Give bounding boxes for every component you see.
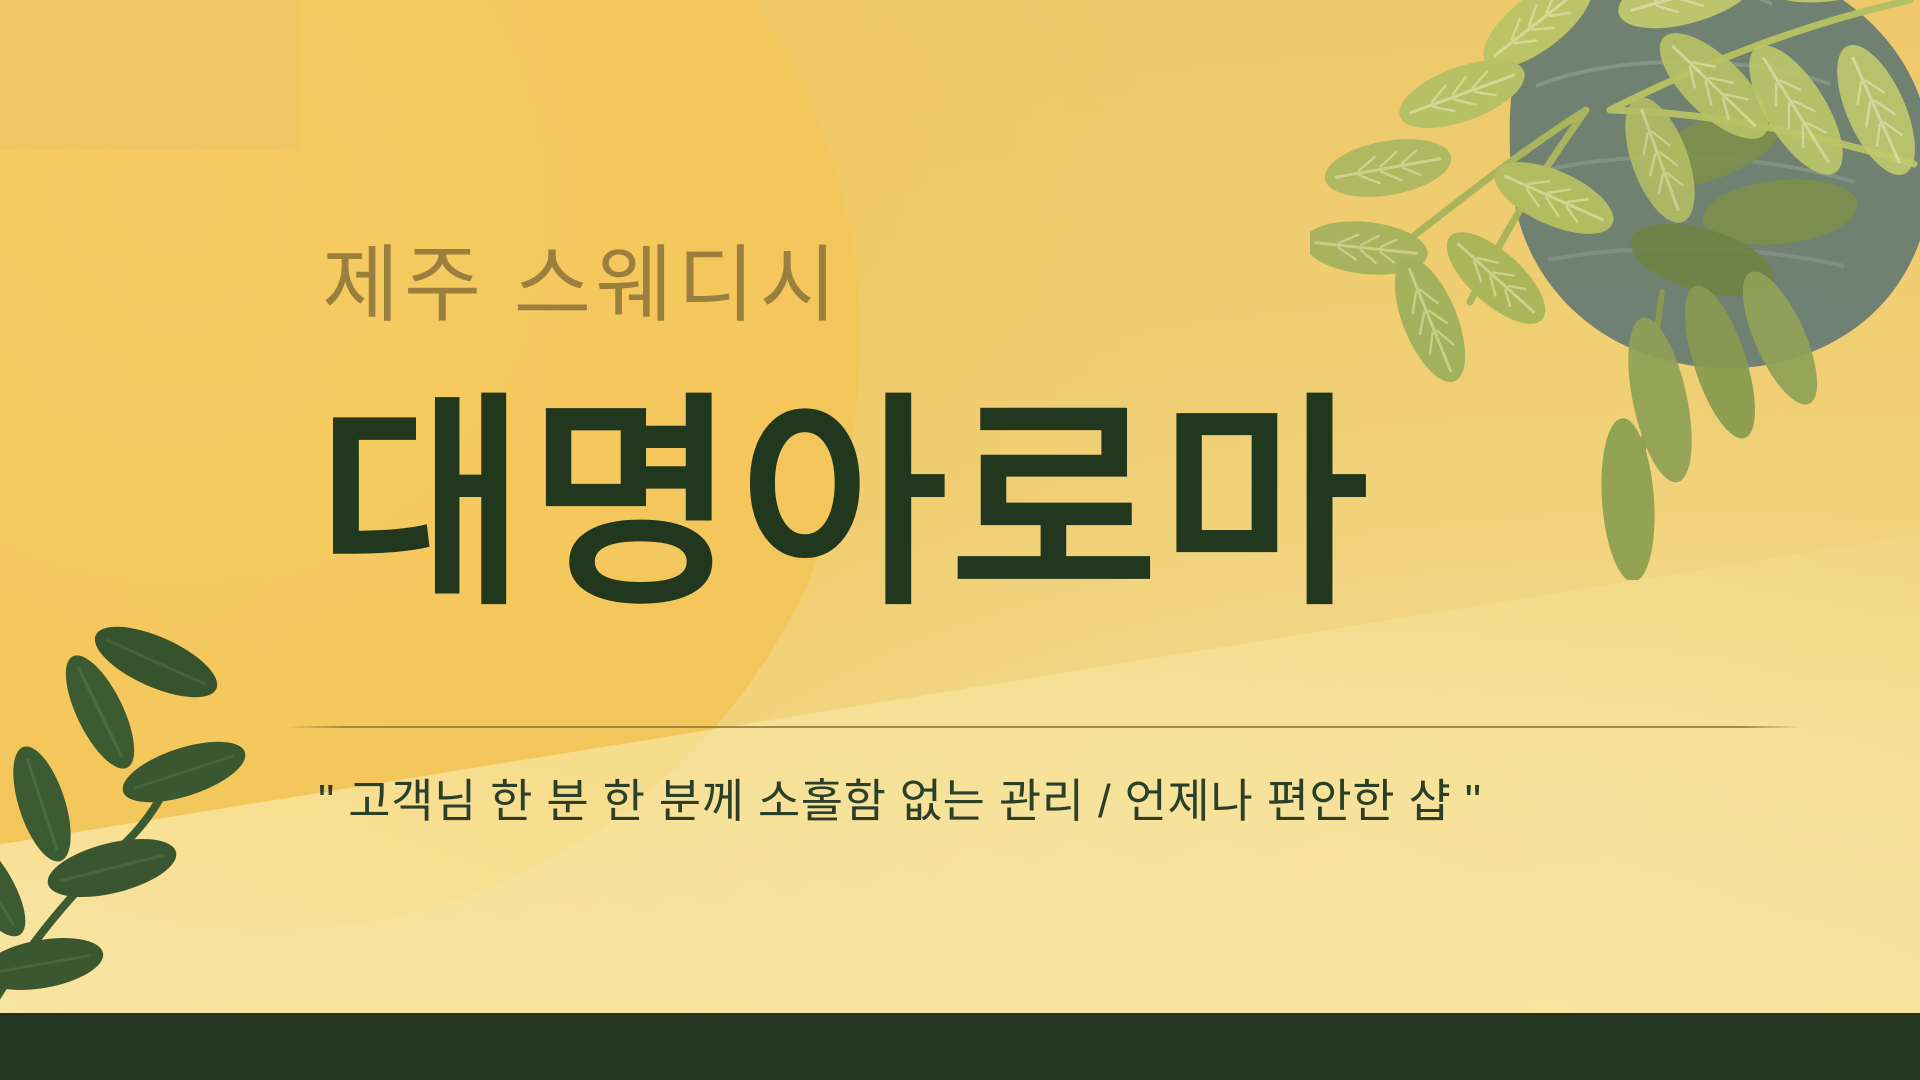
- divider: [286, 726, 1802, 728]
- page-title: 대명아로마: [318, 392, 1371, 618]
- eyebrow-text: 제주 스웨디시: [322, 243, 841, 327]
- footer-band: [0, 1013, 1920, 1080]
- promo-banner: 제주 스웨디시 대명아로마 " 고객님 한 분 한 분께 소홀함 없는 관리 /…: [0, 0, 1920, 1080]
- tagline-text: " 고객님 한 분 한 분께 소홀함 없는 관리 / 언제나 편안한 샵 ": [318, 778, 1482, 824]
- text-content-block: 제주 스웨디시 대명아로마 " 고객님 한 분 한 분께 소홀함 없는 관리 /…: [0, 0, 1920, 1013]
